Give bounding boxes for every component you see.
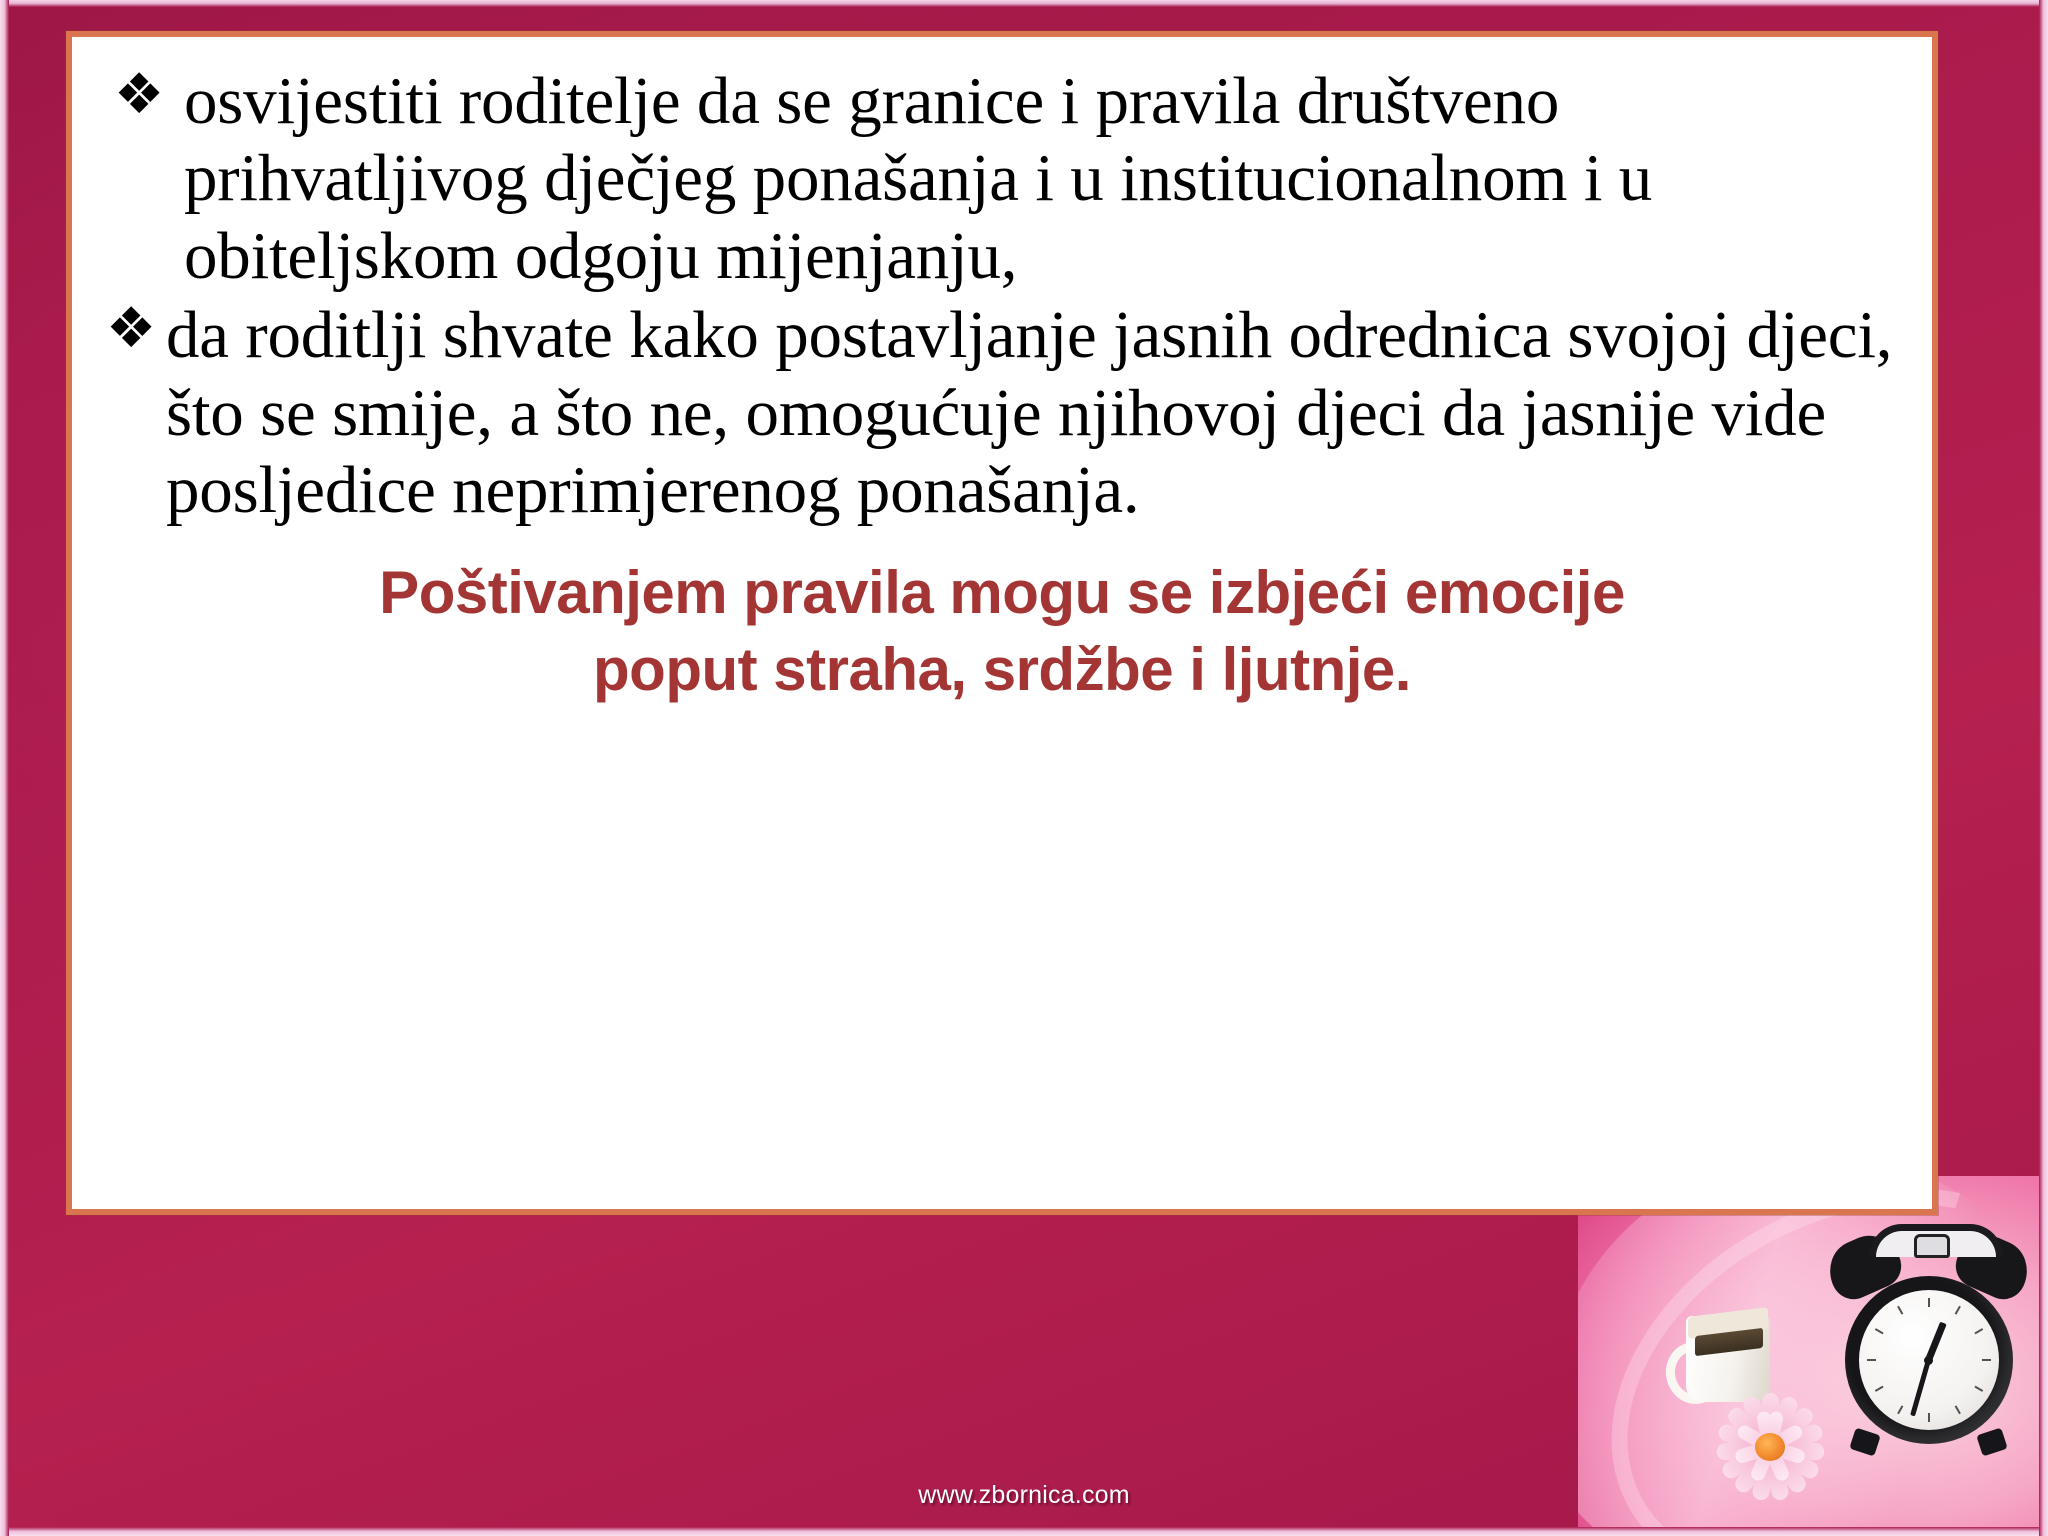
list-item: ❖ da roditlji shvate kako postavljanje j… xyxy=(106,297,1898,529)
highlight-line-1: Poštivanjem pravila mogu se izbjeći emoc… xyxy=(106,555,1898,632)
alarm-clock-icon xyxy=(1826,1234,2031,1439)
list-item: ❖ osvijestiti roditelje da se granice i … xyxy=(106,63,1898,295)
diamond-bullet-icon: ❖ xyxy=(114,67,164,123)
highlight-line-2: poput straha, srdžbe i ljutnje. xyxy=(106,632,1898,709)
bullet-text: osvijestiti roditelje da se granice i pr… xyxy=(184,63,1898,295)
presentation-slide: ❖ osvijestiti roditelje da se granice i … xyxy=(0,0,2048,1536)
bullet-list: ❖ osvijestiti roditelje da se granice i … xyxy=(106,63,1898,529)
highlight-paragraph: Poštivanjem pravila mogu se izbjeći emoc… xyxy=(106,555,1898,709)
diamond-bullet-icon: ❖ xyxy=(106,301,156,357)
site-watermark: www.zbornica.com xyxy=(0,1481,2048,1510)
bullet-text: da roditlji shvate kako postavljanje jas… xyxy=(166,297,1898,529)
content-panel: ❖ osvijestiti roditelje da se granice i … xyxy=(66,31,1938,1215)
